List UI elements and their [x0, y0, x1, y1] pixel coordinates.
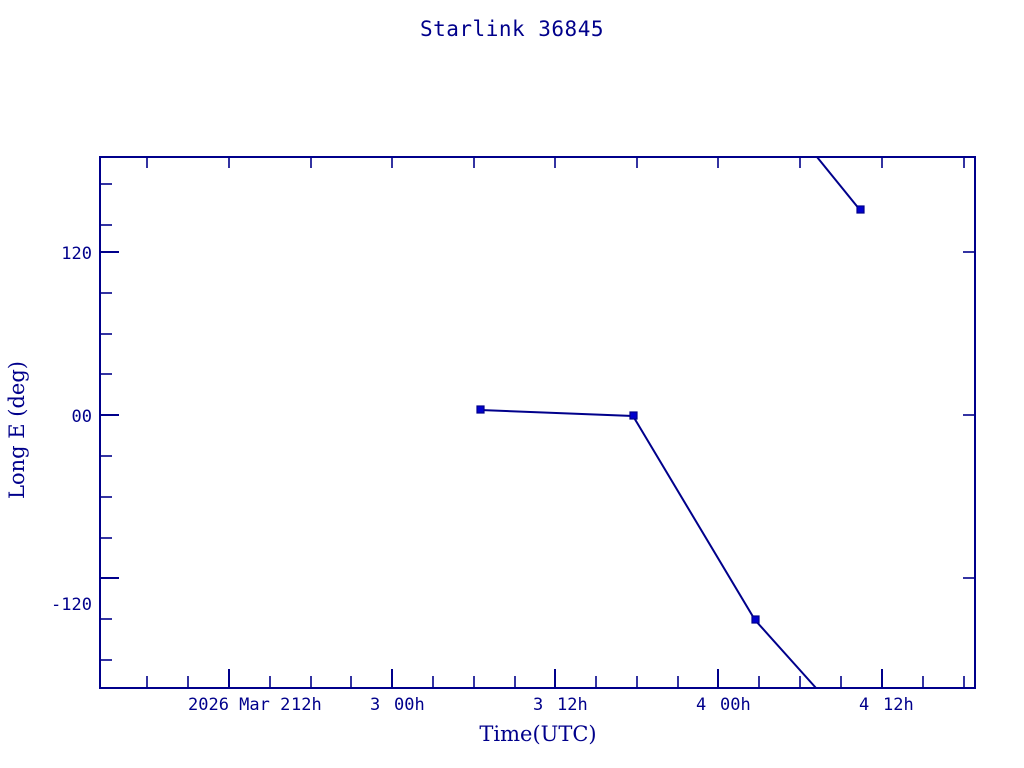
y-tick-labels: 120 00 -120	[51, 244, 92, 615]
x-tick-label: 4	[859, 695, 869, 715]
series-markers	[477, 206, 864, 623]
series-line-segment-2	[817, 157, 860, 210]
y-tick-label: 00	[72, 407, 92, 427]
y-tick-label: -120	[51, 595, 92, 615]
y-tick-label: 120	[61, 244, 92, 264]
data-point-marker	[752, 616, 759, 623]
data-point-marker	[857, 206, 864, 213]
x-tick-labels: 2026 Mar 2 12h 3 00h 3 12h 4 00h 4 12h	[188, 695, 914, 715]
x-tick-label: 3	[370, 695, 380, 715]
plot-area: 120 00 -120 2026 Mar 2 12h 3 00h 3 12h 4…	[0, 0, 1024, 768]
chart-page: Starlink 36845	[0, 0, 1024, 768]
x-tick-label: 12h	[883, 695, 914, 715]
y-axis-title: Long E (deg)	[5, 361, 29, 499]
x-tick-label: 12h	[291, 695, 322, 715]
data-point-marker	[630, 412, 637, 419]
x-tick-label: 00h	[394, 695, 425, 715]
data-point-marker	[477, 406, 484, 413]
x-axis-title: Time(UTC)	[479, 722, 596, 746]
y-axis-minor-ticks	[100, 184, 112, 660]
y-axis-major-ticks	[100, 252, 119, 578]
plot-frame	[100, 157, 975, 688]
x-tick-label: 12h	[557, 695, 588, 715]
y-axis-right-ticks	[963, 252, 975, 578]
x-tick-label: 3	[533, 695, 543, 715]
series-line-segment-1	[480, 410, 816, 688]
x-tick-label: 4	[696, 695, 706, 715]
x-axis-top-ticks	[147, 157, 964, 168]
x-tick-label: 2026 Mar 2	[188, 695, 290, 715]
x-axis-major-ticks	[229, 669, 882, 688]
x-tick-label: 00h	[720, 695, 751, 715]
